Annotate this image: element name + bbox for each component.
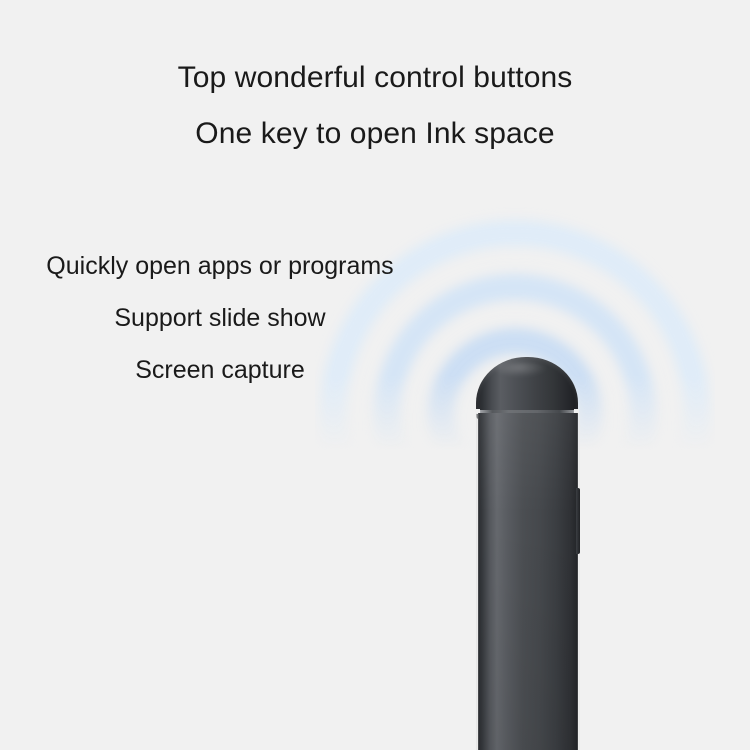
stylus-cap-highlight xyxy=(496,361,548,377)
feature-item-quickly-open-apps: Quickly open apps or programs xyxy=(0,252,462,281)
stylus-barrel-sheen xyxy=(478,413,578,750)
feature-item-support-slide-show: Support slide show xyxy=(0,304,458,333)
stylus-barrel-edge-left xyxy=(476,413,479,750)
stylus-side-button xyxy=(576,488,580,554)
stylus-barrel-edge-right xyxy=(577,413,580,750)
headline-line-2: One key to open Ink space xyxy=(0,106,750,162)
feature-item-screen-capture: Screen capture xyxy=(0,356,440,385)
stylus-pen xyxy=(470,352,590,750)
product-promo-image: Top wonderful control buttons One key to… xyxy=(0,0,750,750)
headline-line-1: Top wonderful control buttons xyxy=(0,50,750,106)
